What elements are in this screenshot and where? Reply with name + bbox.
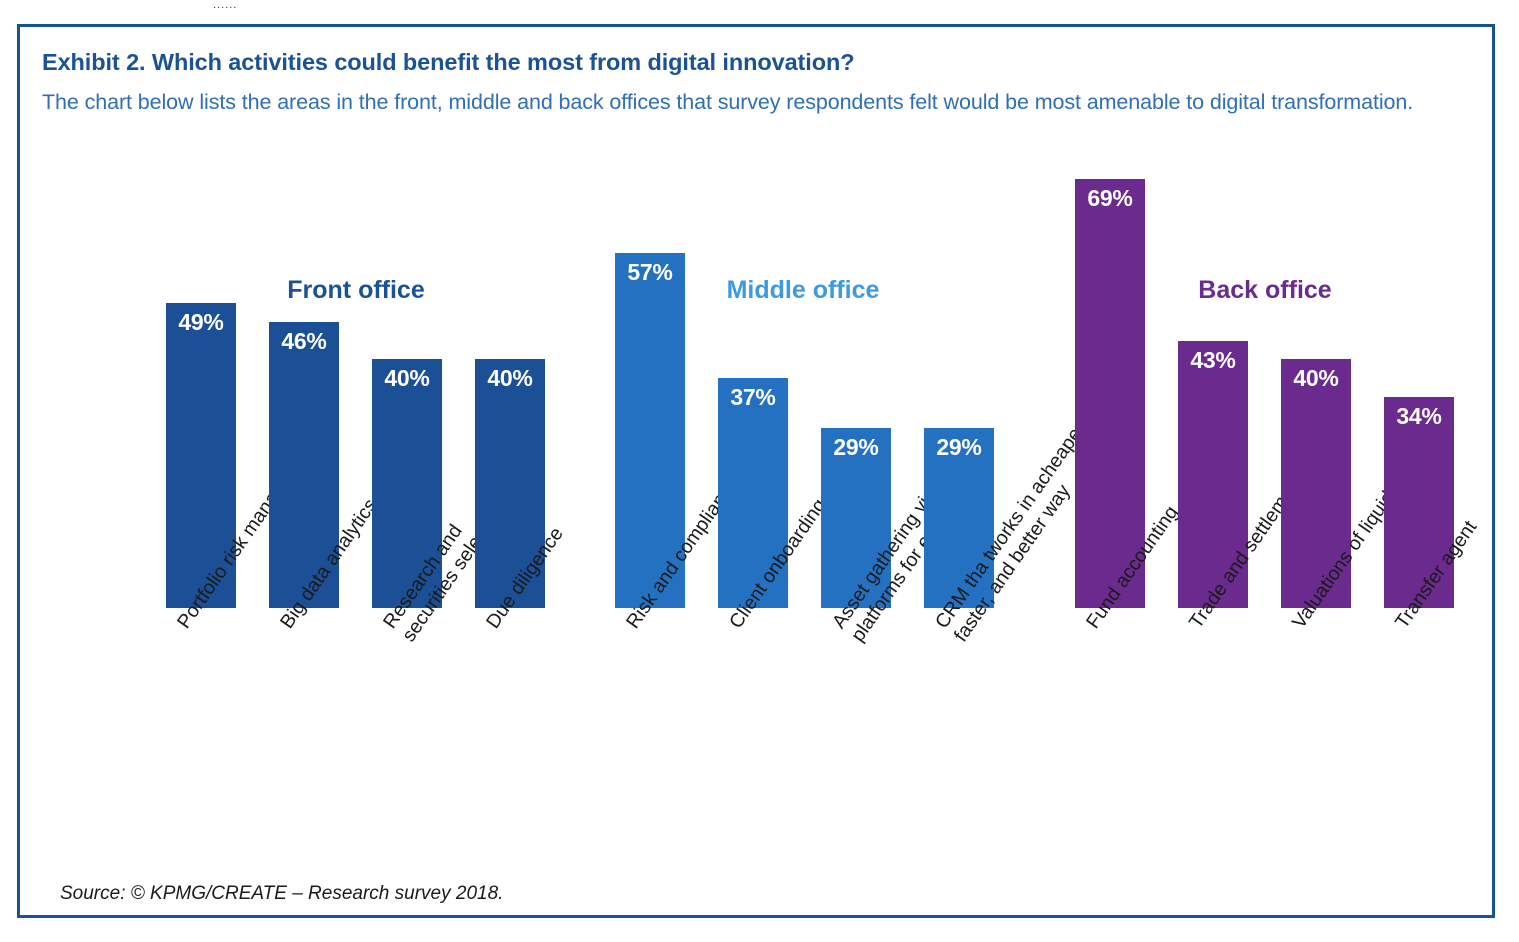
source-note: Source: © KPMG/CREATE – Research survey …: [60, 883, 503, 905]
bar-value-label: 34%: [1384, 403, 1454, 430]
bar-value-label: 43%: [1178, 347, 1248, 374]
bar-value-label: 29%: [924, 434, 994, 461]
group-header-back-office: Back office: [1198, 276, 1331, 305]
bar-value-label: 49%: [166, 309, 236, 336]
bar-value-label: 37%: [718, 384, 788, 411]
group-header-front-office: Front office: [287, 276, 425, 305]
bar-value-label: 57%: [615, 259, 685, 286]
bar-value-label: 29%: [821, 434, 891, 461]
bar-value-label: 46%: [269, 328, 339, 355]
bar-chart: 49%Portfolio risk management46%Big data …: [20, 27, 1492, 915]
bar-value-label: 40%: [1281, 365, 1351, 392]
group-header-middle-office: Middle office: [727, 276, 880, 305]
bar-value-label: 69%: [1075, 185, 1145, 212]
top-edge-artifact: ......: [213, 2, 241, 9]
bar-value-label: 40%: [372, 365, 442, 392]
exhibit-panel: Exhibit 2. Which activities could benefi…: [17, 24, 1495, 918]
bar-value-label: 40%: [475, 365, 545, 392]
